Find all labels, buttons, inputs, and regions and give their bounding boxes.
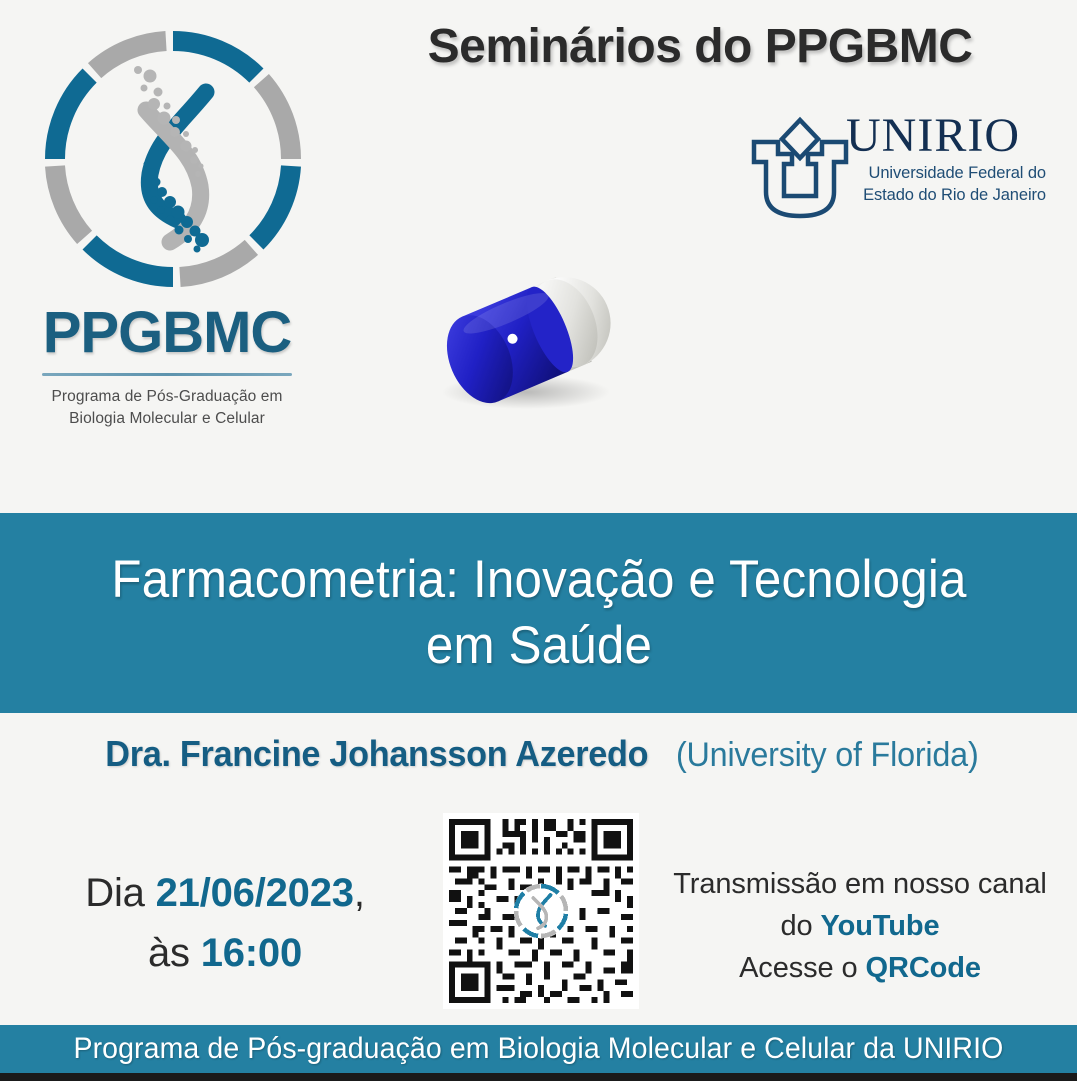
seminar-title-line1: Farmacometria: Inovação e Tecnologia — [64, 547, 1013, 613]
logo-divider — [42, 373, 292, 376]
time-value: 16:00 — [201, 931, 302, 975]
ppgbmc-subtitle-line2: Biologia Molecular e Celular — [14, 408, 320, 430]
stream-line3: Acesse o QRCode — [650, 947, 1070, 989]
ppgbmc-subtitle-line1: Programa de Pós-Graduação em — [14, 386, 320, 408]
qr-code[interactable] — [443, 813, 639, 1009]
stream-line2-prefix: do — [780, 910, 820, 942]
qrcode-label: QRCode — [866, 952, 981, 984]
seminar-poster: PPGBMC Programa de Pós-Graduação em Biol… — [0, 0, 1077, 1081]
unirio-subtitle-line1: Universidade Federal do — [846, 163, 1046, 185]
date-line: Dia 21/06/2023, — [30, 863, 420, 923]
dna-ring-logo-icon — [28, 14, 318, 304]
ppgbmc-wordmark: PPGBMC — [14, 304, 320, 362]
unirio-text-block: UNIRIO Universidade Federal do Estado do… — [846, 112, 1058, 207]
stream-info-block: Transmissão em nosso canal do YouTube Ac… — [650, 863, 1070, 989]
date-time-block: Dia 21/06/2023, às 16:00 — [30, 863, 420, 983]
stream-line3-prefix: Acesse o — [739, 952, 865, 984]
seminar-title: Farmacometria: Inovação e Tecnologia em … — [64, 547, 1013, 680]
unirio-logo: UNIRIO Universidade Federal do Estado do… — [748, 112, 1058, 230]
unirio-subtitle: Universidade Federal do Estado do Rio de… — [846, 163, 1046, 207]
date-prefix: Dia — [85, 871, 155, 915]
speaker-name: Dra. Francine Johansson Azeredo — [105, 733, 648, 775]
ppgbmc-logo: PPGBMC Programa de Pós-Graduação em Biol… — [14, 8, 320, 448]
date-comma: , — [354, 871, 365, 915]
stream-line2: do YouTube — [650, 905, 1070, 947]
time-prefix: às — [148, 931, 201, 975]
stream-line1: Transmissão em nosso canal — [650, 863, 1070, 905]
footer-bar: Programa de Pós-graduação em Biologia Mo… — [0, 1025, 1077, 1073]
info-row: Dia 21/06/2023, às 16:00 — [0, 805, 1077, 1023]
unirio-name: UNIRIO — [846, 112, 1058, 160]
youtube-label[interactable]: YouTube — [820, 910, 939, 942]
seminar-title-banner: Farmacometria: Inovação e Tecnologia em … — [0, 513, 1077, 713]
footer-text: Programa de Pós-graduação em Biologia Mo… — [74, 1032, 1004, 1066]
seminar-title-line2: em Saúde — [64, 613, 1013, 679]
date-value: 21/06/2023 — [156, 871, 354, 915]
bottom-edge-strip — [0, 1073, 1077, 1081]
ppgbmc-subtitle: Programa de Pós-Graduação em Biologia Mo… — [14, 386, 320, 431]
page-title: Seminários do PPGBMC — [340, 22, 1060, 72]
pill-capsule-icon — [418, 268, 632, 418]
top-section: PPGBMC Programa de Pós-Graduação em Biol… — [0, 0, 1077, 513]
speaker-line: Dra. Francine Johansson Azeredo(Universi… — [0, 733, 1077, 775]
unirio-emblem-icon — [748, 114, 852, 222]
speaker-affiliation: (University of Florida) — [676, 736, 979, 775]
time-line: às 16:00 — [30, 923, 420, 983]
unirio-subtitle-line2: Estado do Rio de Janeiro — [846, 185, 1046, 207]
